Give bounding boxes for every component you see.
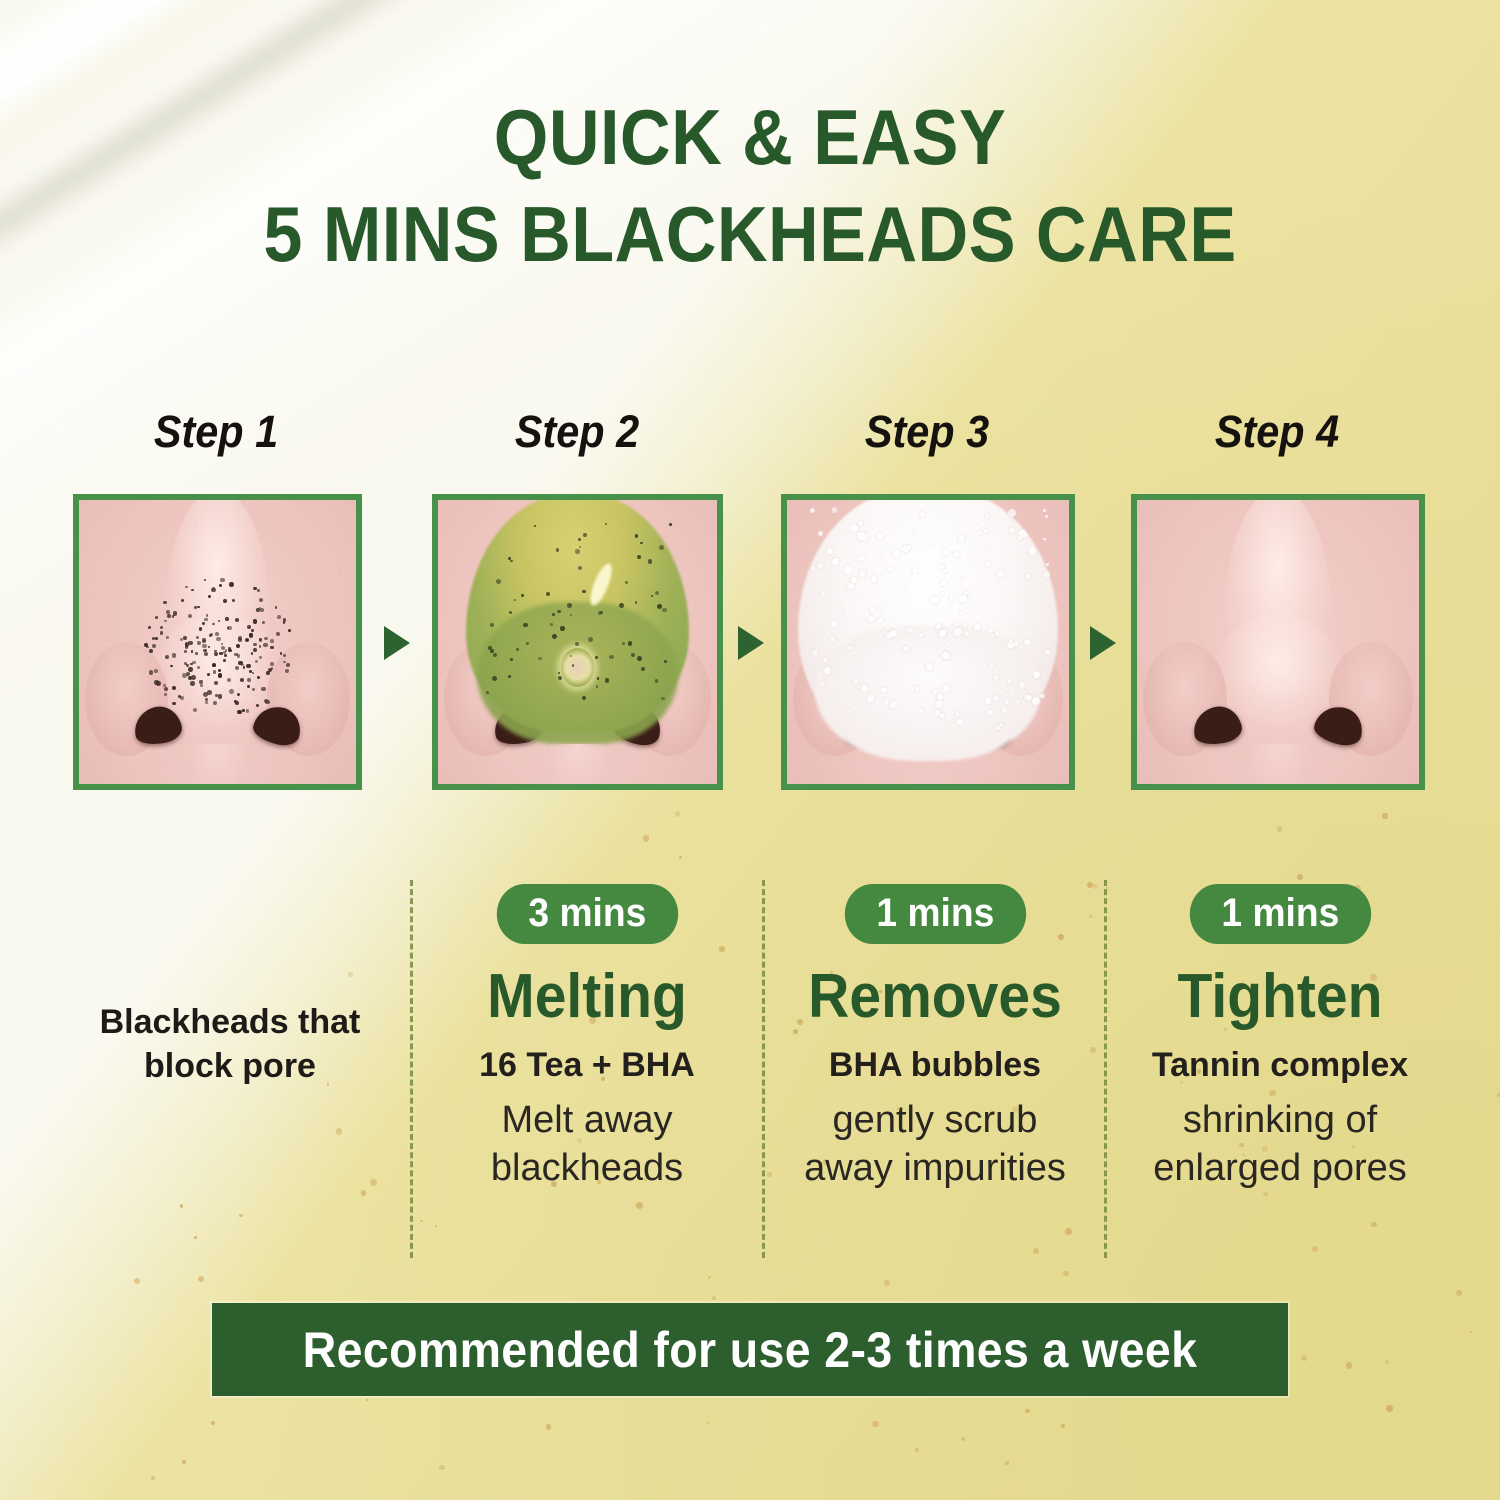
duration-badge-2: 1 mins bbox=[844, 884, 1025, 944]
benefit-title-3: Tighten bbox=[1125, 966, 1434, 1028]
step-label-1: Step 1 bbox=[78, 406, 354, 458]
page-title: QUICK & EASY 5 MINS BLACKHEADS CARE bbox=[0, 96, 1500, 275]
step-label-3: Step 3 bbox=[789, 406, 1065, 458]
column-divider-2 bbox=[762, 880, 765, 1258]
benefit-subtitle-1: 16 Tea + BHA bbox=[418, 1046, 756, 1085]
nose-photo-blackheads bbox=[79, 500, 356, 784]
column-divider-1 bbox=[410, 880, 413, 1258]
arrow-icon-2 bbox=[738, 626, 764, 660]
infographic-canvas: QUICK & EASY 5 MINS BLACKHEADS CARE Step… bbox=[0, 0, 1500, 1500]
nose-photo-clear bbox=[1137, 500, 1419, 784]
benefit-column-2: 1 mins Removes BHA bubbles gently scrub … bbox=[770, 884, 1100, 1192]
lead-caption: Blackheads that block pore bbox=[60, 1000, 400, 1088]
benefit-title-1: Melting bbox=[432, 966, 743, 1028]
lead-caption-line-1: Blackheads that bbox=[60, 1000, 400, 1044]
benefit-desc-3-line-2: enlarged pores bbox=[1112, 1145, 1448, 1191]
column-divider-3 bbox=[1104, 880, 1107, 1258]
step-image-2 bbox=[432, 494, 723, 790]
lead-caption-line-2: block pore bbox=[60, 1044, 400, 1088]
recommendation-banner-text: Recommended for use 2-3 times a week bbox=[303, 1321, 1198, 1379]
arrow-icon-3 bbox=[1090, 626, 1116, 660]
page-title-line-1: QUICK & EASY bbox=[75, 96, 1425, 179]
benefit-column-1: 3 mins Melting 16 Tea + BHA Melt away bl… bbox=[418, 884, 756, 1192]
recommendation-banner: Recommended for use 2-3 times a week bbox=[212, 1303, 1288, 1396]
benefit-desc-1-line-1: Melt away bbox=[418, 1097, 756, 1143]
benefit-subtitle-2: BHA bubbles bbox=[770, 1046, 1100, 1085]
step-image-3 bbox=[781, 494, 1075, 790]
benefit-desc-1-line-2: blackheads bbox=[418, 1145, 756, 1191]
duration-badge-3: 1 mins bbox=[1189, 884, 1370, 944]
step-image-4 bbox=[1131, 494, 1425, 790]
benefit-title-2: Removes bbox=[783, 966, 1087, 1028]
benefit-subtitle-3: Tannin complex bbox=[1112, 1046, 1448, 1085]
page-title-line-2: 5 MINS BLACKHEADS CARE bbox=[75, 193, 1425, 276]
duration-badge-1: 3 mins bbox=[496, 884, 677, 944]
step-label-2: Step 2 bbox=[439, 406, 715, 458]
benefit-desc-2-line-1: gently scrub bbox=[770, 1097, 1100, 1143]
nose-photo-green-mask bbox=[438, 500, 717, 784]
step-label-4: Step 4 bbox=[1139, 406, 1415, 458]
step-image-1 bbox=[73, 494, 362, 790]
nose-photo-bha-bubbles bbox=[787, 500, 1069, 784]
benefit-desc-3-line-1: shrinking of bbox=[1112, 1097, 1448, 1143]
arrow-icon-1 bbox=[384, 626, 410, 660]
benefit-desc-2-line-2: away impurities bbox=[770, 1145, 1100, 1191]
benefit-column-3: 1 mins Tighten Tannin complex shrinking … bbox=[1112, 884, 1448, 1192]
